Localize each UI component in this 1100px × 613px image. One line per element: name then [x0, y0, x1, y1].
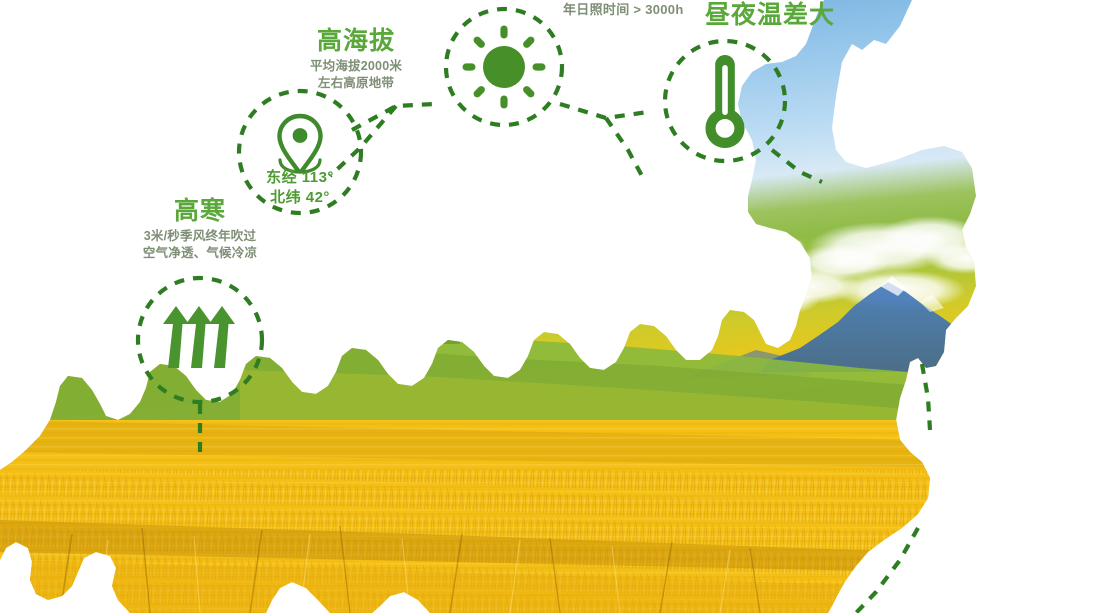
coordinate-longitude: 东经 113° [236, 168, 364, 188]
location-pin-icon [272, 113, 328, 175]
altitude-subtitle-line1: 平均海拔2000米 [236, 59, 476, 74]
cold-label-block: 高寒 3米/秒季风终年吹过 空气净透、气候冷凉 [80, 196, 320, 261]
connector-sun-to-temp [560, 104, 648, 118]
cold-title: 高寒 [80, 196, 320, 227]
altitude-label-block: 高海拔 平均海拔2000米 左右高原地带 [236, 26, 476, 91]
temp-diff-label-block: 昼夜温差大 [655, 0, 885, 31]
sun-icon [462, 25, 546, 109]
cold-subtitle-line1: 3米/秒季风终年吹过 [80, 229, 320, 244]
connector-sun-branch-down [606, 118, 642, 176]
infographic-canvas: 年日照时间 > 3000h 高海拔 平均海拔2000米 左右高原地带 东经 11… [0, 0, 1100, 613]
connector-map-right-upper [922, 364, 930, 430]
wind-arrows-icon [157, 304, 243, 376]
thermometer-icon [702, 53, 748, 149]
node-sunshine[interactable] [443, 6, 565, 128]
connector-map-bottom-right [856, 528, 918, 613]
cold-subtitle-line2: 空气净透、气候冷凉 [80, 246, 320, 261]
temp-diff-title: 昼夜温差大 [655, 0, 885, 31]
altitude-title: 高海拔 [236, 26, 476, 57]
node-cold[interactable] [135, 275, 265, 405]
node-temp-diff[interactable] [662, 38, 788, 164]
